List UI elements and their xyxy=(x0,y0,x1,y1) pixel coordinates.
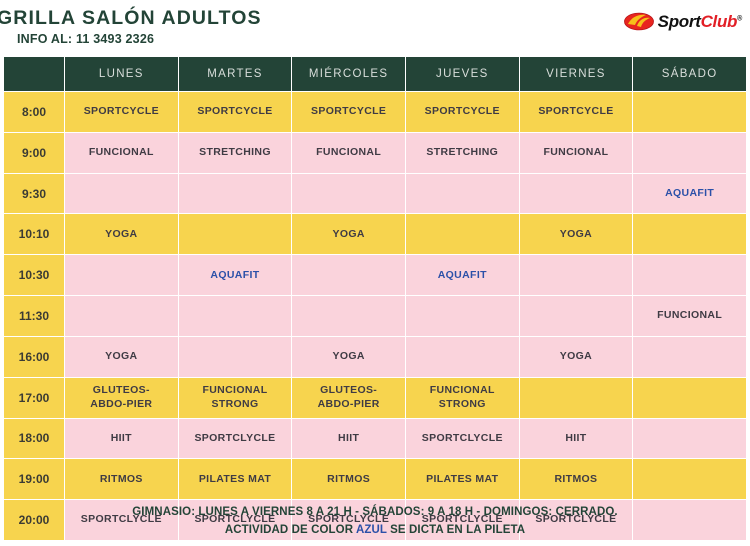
class-cell[interactable]: YOGA xyxy=(520,214,633,254)
table-row: 18:00HIITSPORTCLYCLEHIITSPORTCLYCLEHIIT xyxy=(4,419,746,459)
time-label: 10:10 xyxy=(4,214,64,254)
time-label: 9:00 xyxy=(4,133,64,173)
empty-cell xyxy=(633,255,746,295)
footer-hours: GIMNASIO: LUNES A VIERNES 8 A 21 H - SÁB… xyxy=(0,504,750,522)
class-cell[interactable]: YOGA xyxy=(65,214,178,254)
footer-note-suffix: SE DICTA EN LA PILETA xyxy=(387,524,525,536)
class-cell[interactable]: RITMOS xyxy=(65,459,178,499)
class-cell[interactable]: FUNCIONALSTRONG xyxy=(179,378,292,418)
empty-cell xyxy=(520,174,633,214)
title-block: GRILLA SALÓN ADULTOS INFO AL: 11 3493 23… xyxy=(0,8,262,46)
class-cell[interactable]: FUNCIONAL xyxy=(292,133,405,173)
flame-icon xyxy=(624,12,654,31)
contact-info: INFO AL: 11 3493 2326 xyxy=(17,32,262,46)
table-row: 8:00SPORTCYCLESPORTCYCLESPORTCYCLESPORTC… xyxy=(4,92,746,132)
class-cell[interactable]: FUNCIONAL xyxy=(65,133,178,173)
empty-cell xyxy=(406,214,519,254)
page-title: GRILLA SALÓN ADULTOS xyxy=(0,8,262,28)
class-cell[interactable]: SPORTCYCLE xyxy=(65,92,178,132)
table-row: 10:10YOGAYOGAYOGA xyxy=(4,214,746,254)
class-cell[interactable]: GLUTEOS-ABDO-PIER xyxy=(292,378,405,418)
empty-cell xyxy=(520,296,633,336)
empty-cell xyxy=(179,337,292,377)
empty-cell xyxy=(520,255,633,295)
class-cell[interactable]: STRETCHING xyxy=(406,133,519,173)
empty-cell xyxy=(65,255,178,295)
class-cell[interactable]: YOGA xyxy=(292,214,405,254)
class-cell[interactable]: AQUAFIT xyxy=(406,255,519,295)
class-cell[interactable]: PILATES MAT xyxy=(179,459,292,499)
schedule-body: 8:00SPORTCYCLESPORTCYCLESPORTCYCLESPORTC… xyxy=(4,92,746,540)
table-row: 19:00RITMOSPILATES MATRITMOSPILATES MATR… xyxy=(4,459,746,499)
class-cell[interactable]: YOGA xyxy=(292,337,405,377)
class-cell[interactable]: YOGA xyxy=(65,337,178,377)
empty-cell xyxy=(292,296,405,336)
class-cell[interactable]: RITMOS xyxy=(520,459,633,499)
class-cell[interactable]: SPORTCYCLE xyxy=(520,92,633,132)
class-cell[interactable]: STRETCHING xyxy=(179,133,292,173)
empty-cell xyxy=(406,174,519,214)
class-cell[interactable]: SPORTCYCLE xyxy=(406,92,519,132)
column-header-jueves: JUEVES xyxy=(406,57,519,91)
column-header-lunes: LUNES xyxy=(65,57,178,91)
class-cell[interactable]: HIIT xyxy=(520,419,633,459)
logo-word-club: Club xyxy=(701,12,738,31)
empty-cell xyxy=(292,255,405,295)
class-cell[interactable]: AQUAFIT xyxy=(633,174,746,214)
empty-cell xyxy=(292,174,405,214)
class-cell[interactable]: PILATES MAT xyxy=(406,459,519,499)
schedule-page: GRILLA SALÓN ADULTOS INFO AL: 11 3493 23… xyxy=(0,0,750,546)
time-label: 8:00 xyxy=(4,92,64,132)
table-row: 10:30AQUAFITAQUAFIT xyxy=(4,255,746,295)
class-cell[interactable]: RITMOS xyxy=(292,459,405,499)
empty-cell xyxy=(520,378,633,418)
logo-wordmark: SportClub® xyxy=(658,13,742,30)
table-row: 9:30AQUAFIT xyxy=(4,174,746,214)
class-cell[interactable]: SPORTCYCLE xyxy=(292,92,405,132)
empty-cell xyxy=(633,337,746,377)
time-label: 9:30 xyxy=(4,174,64,214)
class-cell[interactable]: HIIT xyxy=(65,419,178,459)
class-cell[interactable]: GLUTEOS-ABDO-PIER xyxy=(65,378,178,418)
empty-cell xyxy=(65,174,178,214)
empty-cell xyxy=(179,174,292,214)
column-header-mircoles: MIÉRCOLES xyxy=(292,57,405,91)
table-row: 17:00GLUTEOS-ABDO-PIERFUNCIONALSTRONGGLU… xyxy=(4,378,746,418)
class-cell[interactable]: YOGA xyxy=(520,337,633,377)
time-label: 11:30 xyxy=(4,296,64,336)
class-cell[interactable]: SPORTCLYCLE xyxy=(406,419,519,459)
header-corner-cell xyxy=(4,57,64,91)
sportclub-logo: SportClub® xyxy=(624,12,742,31)
column-header-martes: MARTES xyxy=(179,57,292,91)
table-row: 11:30FUNCIONAL xyxy=(4,296,746,336)
schedule-table: LUNESMARTESMIÉRCOLESJUEVESVIERNESSÁBADO … xyxy=(3,56,747,541)
time-label: 16:00 xyxy=(4,337,64,377)
time-label: 17:00 xyxy=(4,378,64,418)
column-header-viernes: VIERNES xyxy=(520,57,633,91)
table-row: 16:00YOGAYOGAYOGA xyxy=(4,337,746,377)
empty-cell xyxy=(633,133,746,173)
empty-cell xyxy=(65,296,178,336)
page-header: GRILLA SALÓN ADULTOS INFO AL: 11 3493 23… xyxy=(0,0,750,52)
time-label: 18:00 xyxy=(4,419,64,459)
empty-cell xyxy=(633,419,746,459)
registered-mark: ® xyxy=(737,15,742,22)
empty-cell xyxy=(633,92,746,132)
class-cell[interactable]: HIIT xyxy=(292,419,405,459)
class-cell[interactable]: SPORTCLYCLE xyxy=(179,419,292,459)
footer-note-highlight: AZUL xyxy=(356,524,387,536)
empty-cell xyxy=(633,459,746,499)
empty-cell xyxy=(179,214,292,254)
class-cell[interactable]: FUNCIONAL xyxy=(633,296,746,336)
table-header-row: LUNESMARTESMIÉRCOLESJUEVESVIERNESSÁBADO xyxy=(4,57,746,91)
time-label: 19:00 xyxy=(4,459,64,499)
footer-pool-note: ACTIVIDAD DE COLOR AZUL SE DICTA EN LA P… xyxy=(0,522,750,540)
empty-cell xyxy=(406,337,519,377)
class-cell[interactable]: AQUAFIT xyxy=(179,255,292,295)
class-cell[interactable]: FUNCIONALSTRONG xyxy=(406,378,519,418)
empty-cell xyxy=(179,296,292,336)
table-row: 9:00FUNCIONALSTRETCHINGFUNCIONALSTRETCHI… xyxy=(4,133,746,173)
empty-cell xyxy=(406,296,519,336)
footer-notes: GIMNASIO: LUNES A VIERNES 8 A 21 H - SÁB… xyxy=(0,504,750,540)
empty-cell xyxy=(633,214,746,254)
class-cell[interactable]: FUNCIONAL xyxy=(520,133,633,173)
empty-cell xyxy=(633,378,746,418)
column-header-sbado: SÁBADO xyxy=(633,57,746,91)
footer-note-prefix: ACTIVIDAD DE COLOR xyxy=(225,524,356,536)
logo-word-sport: Sport xyxy=(658,12,701,31)
time-label: 10:30 xyxy=(4,255,64,295)
class-cell[interactable]: SPORTCYCLE xyxy=(179,92,292,132)
